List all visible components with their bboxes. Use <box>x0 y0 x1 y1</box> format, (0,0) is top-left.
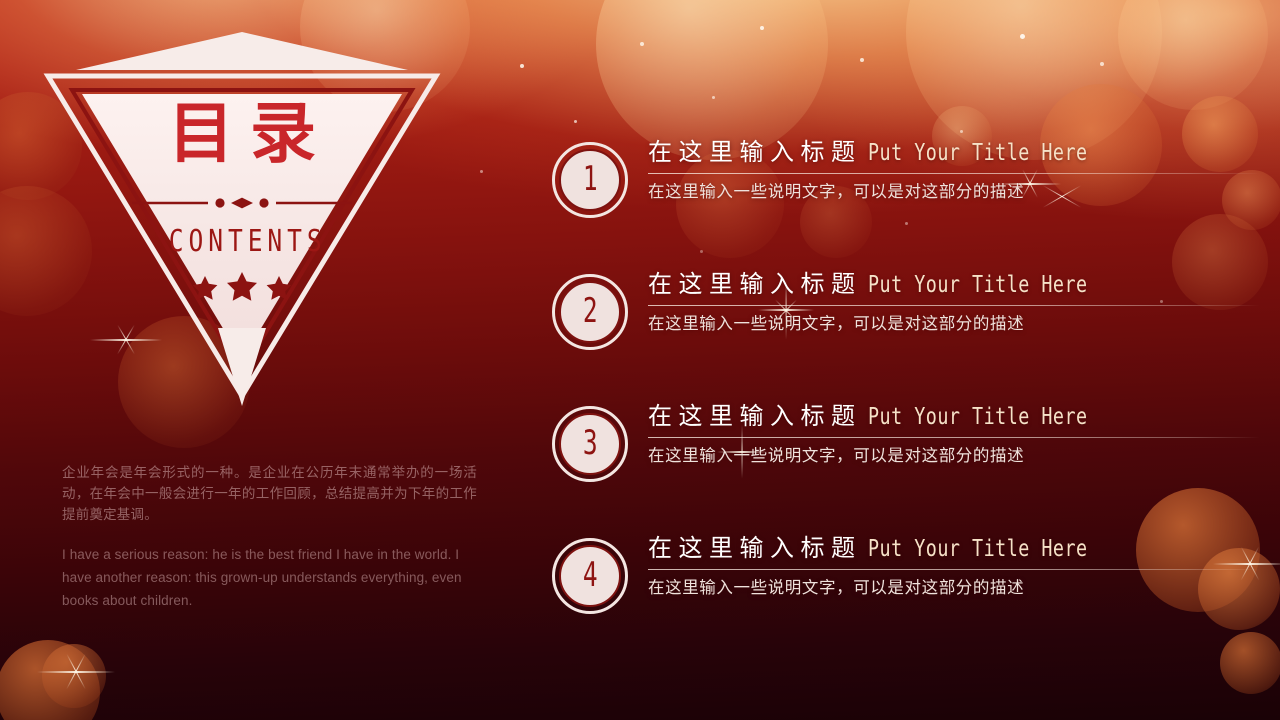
contents-item[interactable]: 2 在这里输入标题Put Your Title Here 在这里输入一些说明文字… <box>552 264 1264 396</box>
speckle <box>640 42 644 46</box>
item-number-circle: 4 <box>552 538 628 614</box>
speckle <box>1020 34 1025 39</box>
speckle <box>860 58 864 62</box>
contents-item[interactable]: 3 在这里输入标题Put Your Title Here 在这里输入一些说明文字… <box>552 396 1264 528</box>
speckle <box>520 64 524 68</box>
item-number-circle: 1 <box>552 142 628 218</box>
badge-triangle-graphic <box>42 28 442 408</box>
contents-list: 1 在这里输入标题Put Your Title Here 在这里输入一些说明文字… <box>552 132 1264 660</box>
bokeh-circle <box>1118 0 1268 110</box>
item-title-en: Put Your Title Here <box>868 404 1088 430</box>
item-text-block: 在这里输入标题Put Your Title Here 在这里输入一些说明文字，可… <box>648 528 1264 598</box>
item-number: 2 <box>583 294 598 328</box>
badge-title-en: CONTENTS <box>42 224 442 259</box>
item-title: 在这里输入标题Put Your Title Here <box>648 132 1264 173</box>
bokeh-circle <box>42 644 106 708</box>
speckle <box>712 96 715 99</box>
item-title-en: Put Your Title Here <box>868 536 1088 562</box>
item-title-en: Put Your Title Here <box>868 140 1088 166</box>
bokeh-circle <box>0 640 100 720</box>
item-title-en: Put Your Title Here <box>868 272 1088 298</box>
item-title: 在这里输入标题Put Your Title Here <box>648 264 1264 305</box>
item-number-inner: 2 <box>559 281 621 343</box>
item-number-circle: 3 <box>552 406 628 482</box>
item-divider <box>648 305 1260 306</box>
item-description: 在这里输入一些说明文字，可以是对这部分的描述 <box>648 442 1264 466</box>
item-number: 3 <box>583 426 598 460</box>
item-divider <box>648 569 1260 570</box>
item-title-cn: 在这里输入标题 <box>648 403 862 430</box>
contents-badge: 目录 CONTENTS <box>42 28 442 408</box>
item-description: 在这里输入一些说明文字，可以是对这部分的描述 <box>648 574 1264 598</box>
three-stars-ornament <box>187 270 297 304</box>
paragraph-english: I have a serious reason: he is the best … <box>62 543 477 612</box>
contents-item[interactable]: 1 在这里输入标题Put Your Title Here 在这里输入一些说明文字… <box>552 132 1264 264</box>
speckle <box>760 26 764 30</box>
item-number-inner: 4 <box>559 545 621 607</box>
item-number: 1 <box>583 162 598 196</box>
item-number-circle: 2 <box>552 274 628 350</box>
item-title-cn: 在这里输入标题 <box>648 271 862 298</box>
speckle <box>1100 62 1104 66</box>
badge-title-cn: 目录 <box>42 100 442 166</box>
item-description: 在这里输入一些说明文字，可以是对这部分的描述 <box>648 178 1264 202</box>
item-number-inner: 1 <box>559 149 621 211</box>
item-text-block: 在这里输入标题Put Your Title Here 在这里输入一些说明文字，可… <box>648 264 1264 334</box>
item-title: 在这里输入标题Put Your Title Here <box>648 396 1264 437</box>
speckle <box>480 170 483 173</box>
item-title: 在这里输入标题Put Your Title Here <box>648 528 1264 569</box>
item-divider <box>648 437 1260 438</box>
item-description: 在这里输入一些说明文字，可以是对这部分的描述 <box>648 310 1264 334</box>
stars-icon <box>187 270 297 304</box>
item-title-cn: 在这里输入标题 <box>648 535 862 562</box>
presentation-slide: 目录 CONTENTS 企业年会是年会形式的一种。是企 <box>0 0 1280 720</box>
item-number: 4 <box>583 558 598 592</box>
diamond-divider-ornament <box>132 196 352 208</box>
item-number-inner: 3 <box>559 413 621 475</box>
item-text-block: 在这里输入标题Put Your Title Here 在这里输入一些说明文字，可… <box>648 396 1264 466</box>
contents-item[interactable]: 4 在这里输入标题Put Your Title Here 在这里输入一些说明文字… <box>552 528 1264 660</box>
item-text-block: 在这里输入标题Put Your Title Here 在这里输入一些说明文字，可… <box>648 132 1264 202</box>
divider-icon <box>132 197 352 209</box>
item-divider <box>648 173 1260 174</box>
paragraph-chinese: 企业年会是年会形式的一种。是企业在公历年末通常举办的一场活动，在年会中一般会进行… <box>62 462 477 525</box>
speckle <box>574 120 577 123</box>
item-title-cn: 在这里输入标题 <box>648 139 862 166</box>
description-paragraph: 企业年会是年会形式的一种。是企业在公历年末通常举办的一场活动，在年会中一般会进行… <box>62 462 477 612</box>
